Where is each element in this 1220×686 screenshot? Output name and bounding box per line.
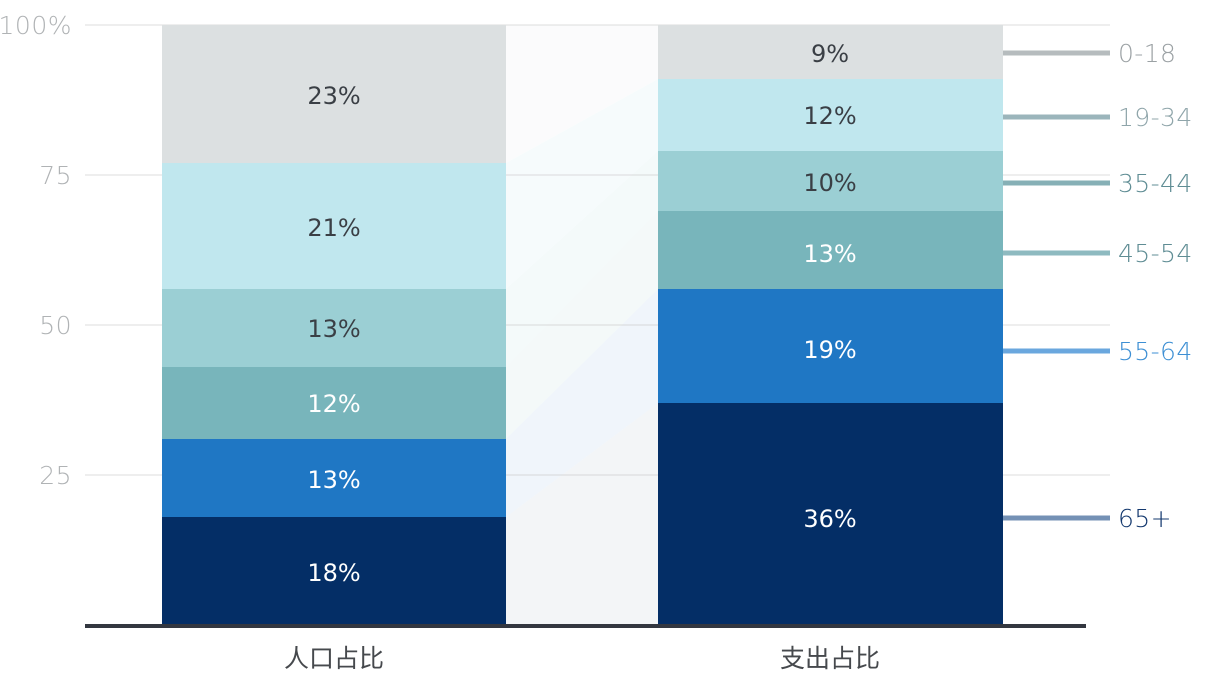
bar-value-right-35-44: 10% [803, 169, 856, 197]
legend-item-55-64[interactable]: 55-64 [1003, 337, 1193, 366]
legend-label-35-44: 35-44 [1118, 169, 1193, 198]
bar-value-right-45-54: 13% [803, 240, 856, 268]
category-label-spending: 支出占比 [780, 644, 880, 673]
legend-label-0-18: 0-18 [1118, 39, 1176, 68]
bar-value-left-0-18: 23% [307, 82, 360, 110]
y-tick-50: 50 [39, 311, 72, 340]
y-tick-75: 75 [39, 161, 72, 190]
bar-population-share[interactable]: 23% 21% 13% 12% 13% 18% [162, 25, 506, 625]
legend-label-19-34: 19-34 [1118, 103, 1193, 132]
legend-label-55-64: 55-64 [1118, 337, 1193, 366]
legend-item-45-54[interactable]: 45-54 [1003, 239, 1193, 268]
legend-item-0-18[interactable]: 0-18 [1003, 39, 1176, 68]
bar-value-right-19-34: 12% [803, 102, 856, 130]
bar-value-right-65-plus: 36% [803, 505, 856, 533]
legend-item-35-44[interactable]: 35-44 [1003, 169, 1193, 198]
x-axis-category-labels: 人口占比 支出占比 [284, 644, 880, 673]
bar-spending-share[interactable]: 9% 12% 10% 13% 19% 36% [658, 25, 1003, 625]
bar-value-left-65-plus: 18% [307, 559, 360, 587]
y-tick-100: 100% [0, 11, 72, 40]
legend-item-19-34[interactable]: 19-34 [1003, 103, 1193, 132]
y-tick-25: 25 [39, 461, 72, 490]
bar-value-right-55-64: 19% [803, 336, 856, 364]
legend: 0-18 19-34 35-44 45-54 55-64 65+ [1003, 39, 1193, 533]
bar-value-right-0-18: 9% [811, 40, 849, 68]
bar-value-left-35-44: 13% [307, 315, 360, 343]
legend-label-65-plus: 65+ [1118, 504, 1172, 533]
y-axis-tick-labels: 100% 75 50 25 [0, 11, 72, 490]
bar-value-left-45-54: 12% [307, 390, 360, 418]
stacked-bar-chart: 100% 75 50 25 23% 21% 13% 12% 13 [0, 0, 1220, 686]
category-label-population: 人口占比 [284, 644, 384, 673]
bar-value-left-55-64: 13% [307, 466, 360, 494]
bar-value-left-19-34: 21% [307, 214, 360, 242]
legend-label-45-54: 45-54 [1118, 239, 1193, 268]
legend-item-65-plus[interactable]: 65+ [1003, 504, 1172, 533]
